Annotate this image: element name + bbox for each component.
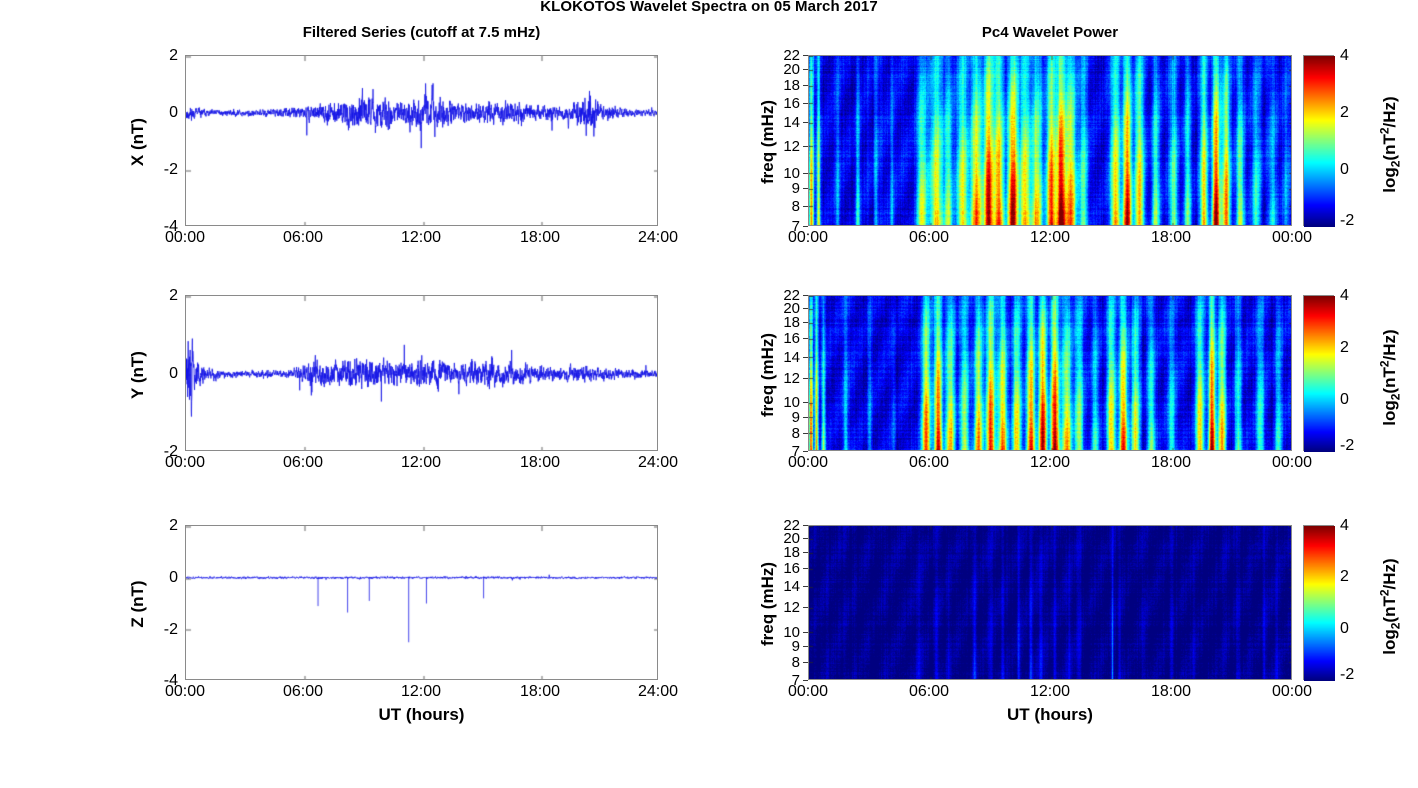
- spectrogram-freq-tick: 18: [762, 545, 800, 560]
- spectrogram-freq-tick: 16: [762, 96, 800, 111]
- spectrogram-xtick-z-3: 18:00: [1134, 684, 1208, 700]
- timeseries-ytick-x-0: 2: [140, 48, 178, 64]
- colorbar-label-base: log: [1380, 629, 1399, 655]
- colorbar-tick-x-0: 4: [1340, 48, 1349, 64]
- spectrogram-freq-tickmark: [803, 357, 808, 358]
- spectrogram-freq-tickmark: [803, 525, 808, 526]
- spectrogram-freq-tick: 7: [762, 444, 800, 459]
- spectrogram-xtick-z-2: 12:00: [1013, 684, 1087, 700]
- spectrogram-freq-tickmark: [803, 607, 808, 608]
- spectrogram-xtick-y-1: 06:00: [892, 455, 966, 471]
- colorbar-tick-z-1: 2: [1340, 569, 1349, 585]
- spectrogram-freq-tick: 9: [762, 410, 800, 425]
- timeseries-xtick-z-0: 00:00: [148, 684, 222, 700]
- spectrogram-xtick-z-1: 06:00: [892, 684, 966, 700]
- spectrogram-freq-tick: 18: [762, 315, 800, 330]
- spectrogram-freq-tickmark: [803, 85, 808, 86]
- colorbar-label-sup: 2: [1377, 127, 1391, 134]
- colorbar-tick-y-0: 4: [1340, 288, 1349, 304]
- spectrogram-freq-tickmark: [803, 402, 808, 403]
- spectrogram-freq-tickmark: [803, 322, 808, 323]
- spectrogram-freq-tickmark: [803, 568, 808, 569]
- spectrogram-freq-tick: 18: [762, 78, 800, 93]
- spectrogram-xtick-y-3: 18:00: [1134, 455, 1208, 471]
- colorbar-label-base: log: [1380, 167, 1399, 193]
- colorbar-tick-x-1: 2: [1340, 105, 1349, 121]
- spectrogram-freq-tickmark: [803, 103, 808, 104]
- spectrogram-freq-tickmark: [803, 586, 808, 587]
- colorbar-label-mid: (nT: [1380, 596, 1399, 622]
- spectrogram-freq-tick: 9: [762, 639, 800, 654]
- figure-canvas: KLOKOTOS Wavelet Spectra on 05 March 201…: [0, 0, 1418, 788]
- timeseries-xlabel: UT (hours): [185, 705, 658, 725]
- colorbar-tick-y-3: -2: [1340, 438, 1354, 454]
- colorbar-label-sup: 2: [1377, 360, 1391, 367]
- spectrogram-xtick-x-2: 12:00: [1013, 230, 1087, 246]
- spectrogram-freq-tick: 14: [762, 115, 800, 130]
- spectrogram-freq-tickmark: [803, 226, 808, 227]
- right-column-title: Pc4 Wavelet Power: [808, 24, 1292, 41]
- spectrogram-freq-tick: 8: [762, 199, 800, 214]
- spectrogram-freq-tickmark: [803, 552, 808, 553]
- colorbar-label-mid: (nT: [1380, 134, 1399, 160]
- spectrogram-freq-tick: 12: [762, 139, 800, 154]
- timeseries-ytick-z-1: 0: [140, 570, 178, 586]
- timeseries-xtick-z-4: 24:00: [621, 684, 695, 700]
- spectrogram-freq-tick: 10: [762, 166, 800, 181]
- colorbar-tick-z-2: 0: [1340, 621, 1349, 637]
- colorbar-label-end: /Hz): [1380, 558, 1399, 589]
- spectrogram-freq-tickmark: [803, 451, 808, 452]
- timeseries-ytick-z-2: -2: [140, 622, 178, 638]
- timeseries-ytick-y-1: 0: [140, 366, 178, 382]
- spectrogram-freq-tickmark: [803, 146, 808, 147]
- spectrogram-xtick-z-4: 00:00: [1255, 684, 1329, 700]
- colorbar-label-sub: 2: [1389, 394, 1403, 401]
- colorbar-z[interactable]: [1303, 525, 1334, 680]
- timeseries-xtick-x-2: 12:00: [384, 230, 458, 246]
- timeseries-xtick-z-2: 12:00: [384, 684, 458, 700]
- figure-title: KLOKOTOS Wavelet Spectra on 05 March 201…: [0, 0, 1418, 15]
- spectrogram-freq-tick: 16: [762, 331, 800, 346]
- spectrogram-plot-y[interactable]: [808, 295, 1292, 451]
- spectrogram-freq-tick: 7: [762, 673, 800, 688]
- timeseries-xtick-y-4: 24:00: [621, 455, 695, 471]
- spectrogram-freq-tickmark: [803, 538, 808, 539]
- spectrogram-freq-tickmark: [803, 646, 808, 647]
- timeseries-ylabel-z: Z (nT): [128, 544, 148, 664]
- colorbar-x[interactable]: [1303, 55, 1334, 226]
- spectrogram-freq-tick: 7: [762, 219, 800, 234]
- spectrogram-freq-tickmark: [803, 173, 808, 174]
- colorbar-tick-y-2: 0: [1340, 392, 1349, 408]
- spectrogram-freq-tickmark: [803, 632, 808, 633]
- spectrogram-xtick-y-2: 12:00: [1013, 455, 1087, 471]
- colorbar-label-end: /Hz): [1380, 329, 1399, 360]
- spectrogram-freq-tick: 12: [762, 371, 800, 386]
- timeseries-plot-z[interactable]: [185, 525, 658, 680]
- spectrogram-freq-tickmark: [803, 206, 808, 207]
- timeseries-xtick-x-4: 24:00: [621, 230, 695, 246]
- colorbar-label-sub: 2: [1389, 161, 1403, 168]
- spectrogram-freq-tickmark: [803, 680, 808, 681]
- colorbar-label-end: /Hz): [1380, 96, 1399, 127]
- timeseries-xtick-x-1: 06:00: [266, 230, 340, 246]
- spectrogram-plot-z[interactable]: [808, 525, 1292, 680]
- spectrogram-freq-tick: 14: [762, 350, 800, 365]
- timeseries-ytick-z-0: 2: [140, 518, 178, 534]
- spectrogram-freq-tickmark: [803, 417, 808, 418]
- colorbar-tick-x-2: 0: [1340, 162, 1349, 178]
- timeseries-xtick-z-3: 18:00: [503, 684, 577, 700]
- colorbar-label-x: log2(nT2/Hz): [1377, 65, 1402, 225]
- colorbar-label-sup: 2: [1377, 589, 1391, 596]
- colorbar-label-base: log: [1380, 400, 1399, 426]
- colorbar-tick-x-3: -2: [1340, 213, 1354, 229]
- spectrogram-freq-tickmark: [803, 55, 808, 56]
- spectrogram-freq-tickmark: [803, 295, 808, 296]
- spectrogram-plot-x[interactable]: [808, 55, 1292, 226]
- timeseries-ytick-x-1: 0: [140, 105, 178, 121]
- left-column-title: Filtered Series (cutoff at 7.5 mHz): [185, 24, 658, 41]
- timeseries-xtick-x-0: 00:00: [148, 230, 222, 246]
- spectrogram-freq-tick: 8: [762, 655, 800, 670]
- spectrogram-xtick-x-1: 06:00: [892, 230, 966, 246]
- timeseries-plot-y[interactable]: [185, 295, 658, 451]
- colorbar-y[interactable]: [1303, 295, 1334, 451]
- spectrogram-freq-tickmark: [803, 433, 808, 434]
- spectrogram-xtick-x-4: 00:00: [1255, 230, 1329, 246]
- timeseries-xtick-y-1: 06:00: [266, 455, 340, 471]
- colorbar-tick-y-1: 2: [1340, 340, 1349, 356]
- colorbar-label-mid: (nT: [1380, 367, 1399, 393]
- spectrogram-freq-tickmark: [803, 662, 808, 663]
- timeseries-ytick-y-0: 2: [140, 288, 178, 304]
- colorbar-label-y: log2(nT2/Hz): [1377, 298, 1402, 458]
- spectrogram-freq-tick: 16: [762, 561, 800, 576]
- spectrogram-freq-tick: 9: [762, 181, 800, 196]
- colorbar-tick-z-0: 4: [1340, 518, 1349, 534]
- spectrogram-freq-tickmark: [803, 122, 808, 123]
- spectrogram-freq-tickmark: [803, 378, 808, 379]
- colorbar-label-z: log2(nT2/Hz): [1377, 527, 1402, 687]
- timeseries-xtick-y-3: 18:00: [503, 455, 577, 471]
- spectrogram-freq-tickmark: [803, 188, 808, 189]
- timeseries-xtick-x-3: 18:00: [503, 230, 577, 246]
- spectrogram-freq-tickmark: [803, 338, 808, 339]
- spectrogram-freq-tick: 20: [762, 62, 800, 77]
- spectrogram-xlabel: UT (hours): [808, 705, 1292, 725]
- timeseries-xtick-z-1: 06:00: [266, 684, 340, 700]
- spectrogram-freq-tick: 14: [762, 579, 800, 594]
- colorbar-label-sub: 2: [1389, 623, 1403, 630]
- spectrogram-freq-tick: 12: [762, 600, 800, 615]
- spectrogram-freq-tick: 8: [762, 426, 800, 441]
- timeseries-xtick-y-0: 00:00: [148, 455, 222, 471]
- timeseries-ylabel-x: X (nT): [128, 82, 148, 202]
- timeseries-xtick-y-2: 12:00: [384, 455, 458, 471]
- timeseries-plot-x[interactable]: [185, 55, 658, 226]
- timeseries-ytick-x-2: -2: [140, 162, 178, 178]
- spectrogram-freq-tickmark: [803, 308, 808, 309]
- spectrogram-xtick-y-4: 00:00: [1255, 455, 1329, 471]
- colorbar-tick-z-3: -2: [1340, 667, 1354, 683]
- spectrogram-freq-tickmark: [803, 69, 808, 70]
- spectrogram-xtick-x-3: 18:00: [1134, 230, 1208, 246]
